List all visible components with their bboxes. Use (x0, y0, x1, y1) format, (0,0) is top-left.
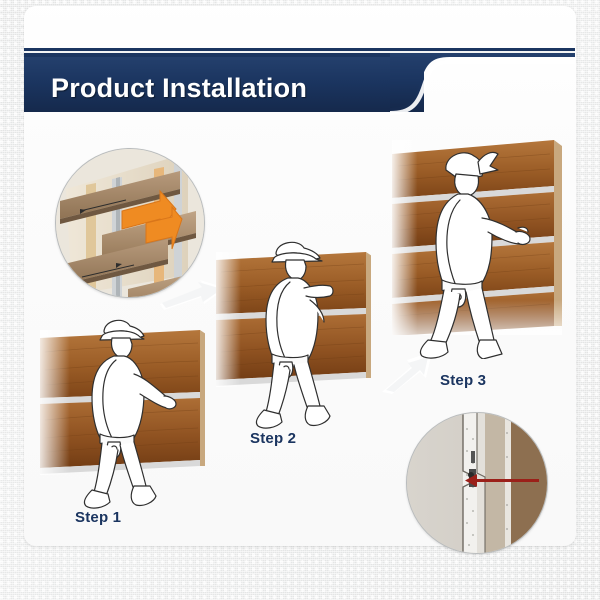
banner-curve-tail (390, 53, 590, 123)
detail-top-left-circle (55, 148, 205, 298)
step-1-label: Step 1 (75, 509, 121, 526)
step-2-worker-figure (248, 236, 358, 431)
step-2-label: Step 2 (250, 430, 296, 447)
page-title: Product Installation (51, 73, 307, 104)
detail-bottom-right-circle (406, 412, 548, 554)
installation-graphic-page: Product Installation (0, 0, 600, 600)
step-1-worker-figure (72, 312, 182, 517)
step-3-worker-figure (418, 144, 538, 359)
step-3-label: Step 3 (440, 372, 486, 389)
header-banner: Product Installation (24, 57, 424, 112)
